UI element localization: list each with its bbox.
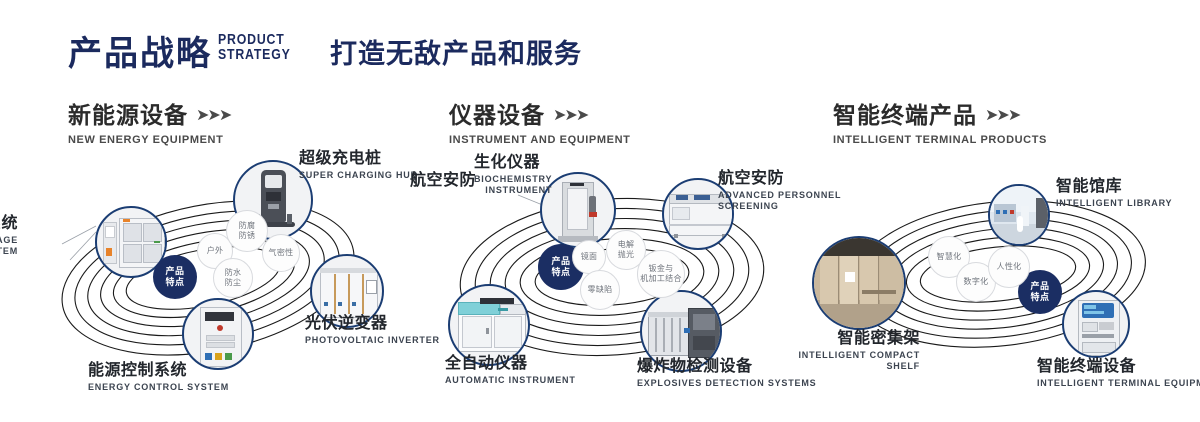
chevron-right-triple-icon: ➤➤➤ (985, 105, 1019, 125)
caption-en: ENERGY STORAGESYSTEM (0, 235, 18, 257)
section-title-en: NEW ENERGY EQUIPMENT (68, 134, 230, 146)
caption-en: INTELLIGENT LIBRARY (1056, 198, 1172, 209)
caption-en: BIOCHEMISTRYINSTRUMENT (474, 174, 552, 196)
caption-cn: 智能密集架 (790, 330, 920, 348)
chevron-right-triple-icon: ➤➤➤ (553, 105, 587, 125)
caption-cn: 航空安防 (410, 172, 476, 190)
feature-bubble: 零缺陷 (580, 270, 620, 310)
automatic-analyzer-icon (450, 286, 528, 364)
caption-cn: 智能馆库 (1056, 178, 1172, 196)
biochemistry-scanner-icon (542, 174, 614, 246)
caption-automatic-instrument: 全自动仪器 AUTOMATIC INSTRUMENT (445, 355, 576, 386)
section-title-cn: 新能源设备➤➤➤ (68, 96, 230, 130)
poster-header: 产品战略 PRODUCT STRATEGY 打造无敌产品和服务 (0, 0, 1200, 88)
caption-intelligent-terminal-equipment: 智能终端设备 INTELLIGENT TERMINAL EQUIPMENT (1037, 358, 1200, 389)
node-energy-control-system[interactable] (182, 298, 254, 370)
caption-cn: 生化仪器 (474, 154, 552, 172)
feature-bubble: 防腐 防锈 (226, 210, 268, 252)
caption-cn: 全自动仪器 (445, 355, 576, 373)
smart-library-room-icon (990, 186, 1048, 244)
section-title-intelligent-terminal: 智能终端产品➤➤➤ INTELLIGENT TERMINAL PRODUCTS (833, 96, 1047, 146)
page-title-english: PRODUCT STRATEGY (218, 32, 291, 62)
section-title-cn: 仪器设备➤➤➤ (449, 96, 630, 130)
page-subtitle: 打造无敌产品和服务 (330, 32, 582, 71)
caption-energy-storage: 储能系统 ENERGY STORAGESYSTEM (0, 215, 18, 257)
section-title-en: INSTRUMENT AND EQUIPMENT (449, 134, 630, 146)
caption-en: INTELLIGENT COMPACTSHELF (790, 350, 920, 372)
caption-intelligent-library: 智能馆库 INTELLIGENT LIBRARY (1056, 178, 1172, 209)
caption-en: ENERGY CONTROL SYSTEM (88, 382, 229, 393)
feature-bubble: 人性化 (988, 246, 1030, 288)
caption-energy-control-system: 能源控制系统 ENERGY CONTROL SYSTEM (88, 362, 229, 393)
caption-cn: 能源控制系统 (88, 362, 229, 380)
cluster-new-energy: 储能系统 ENERGY STORAGESYSTEM 超级充电桩 SUPER CH… (0, 150, 420, 400)
section-title-instrument: 仪器设备➤➤➤ INSTRUMENT AND EQUIPMENT (449, 96, 630, 146)
feature-core-new-energy: 产品 特点 (153, 255, 197, 299)
cluster-intelligent-terminal: 智能馆库 INTELLIGENT LIBRARY 智能密集架 INTELLIGE… (800, 150, 1200, 400)
section-title-new-energy: 新能源设备➤➤➤ NEW ENERGY EQUIPMENT (68, 96, 230, 146)
cluster-instrument: 航空安防 生化仪器 BIOCHEMISTRYINSTRUMENT 航空安防 AD… (400, 150, 820, 400)
caption-en: INTELLIGENT TERMINAL EQUIPMENT (1037, 378, 1200, 389)
section-title-cn: 智能终端产品➤➤➤ (833, 96, 1047, 130)
page-title: 产品战略 (68, 26, 212, 75)
node-intelligent-library[interactable] (988, 184, 1050, 246)
node-automatic-instrument[interactable] (448, 284, 530, 366)
feature-bubble: 镜面 (572, 240, 606, 274)
caption-intelligent-compact-shelf: 智能密集架 INTELLIGENT COMPACTSHELF (790, 330, 920, 372)
compact-shelving-icon (814, 238, 904, 328)
caption-en: EXPLOSIVES DETECTION SYSTEMS (637, 378, 816, 389)
caption-biochemistry-instrument: 生化仪器 BIOCHEMISTRYINSTRUMENT (474, 154, 552, 196)
feature-bubble: 气密性 (262, 234, 300, 272)
self-service-kiosk-icon (1064, 292, 1128, 356)
page-title-english-line1: PRODUCT (218, 32, 291, 47)
product-strategy-poster: 产品战略 PRODUCT STRATEGY 打造无敌产品和服务 新能源设备➤➤➤… (0, 0, 1200, 422)
chevron-right-triple-icon: ➤➤➤ (196, 105, 230, 125)
node-intelligent-compact-shelf[interactable] (812, 236, 906, 330)
feature-bubble: 钣金与 机加工结合 (637, 250, 685, 298)
section-title-en: INTELLIGENT TERMINAL PRODUCTS (833, 134, 1047, 146)
node-intelligent-terminal-equipment[interactable] (1062, 290, 1130, 358)
control-cabinet-icon (184, 300, 252, 368)
feature-bubble: 防水 防尘 (213, 258, 253, 298)
page-title-english-line2: STRATEGY (218, 47, 291, 62)
caption-cn: 储能系统 (0, 215, 18, 233)
caption-cn: 智能终端设备 (1037, 358, 1200, 376)
caption-aviation-security-left: 航空安防 (410, 172, 476, 190)
caption-en: AUTOMATIC INSTRUMENT (445, 375, 576, 386)
